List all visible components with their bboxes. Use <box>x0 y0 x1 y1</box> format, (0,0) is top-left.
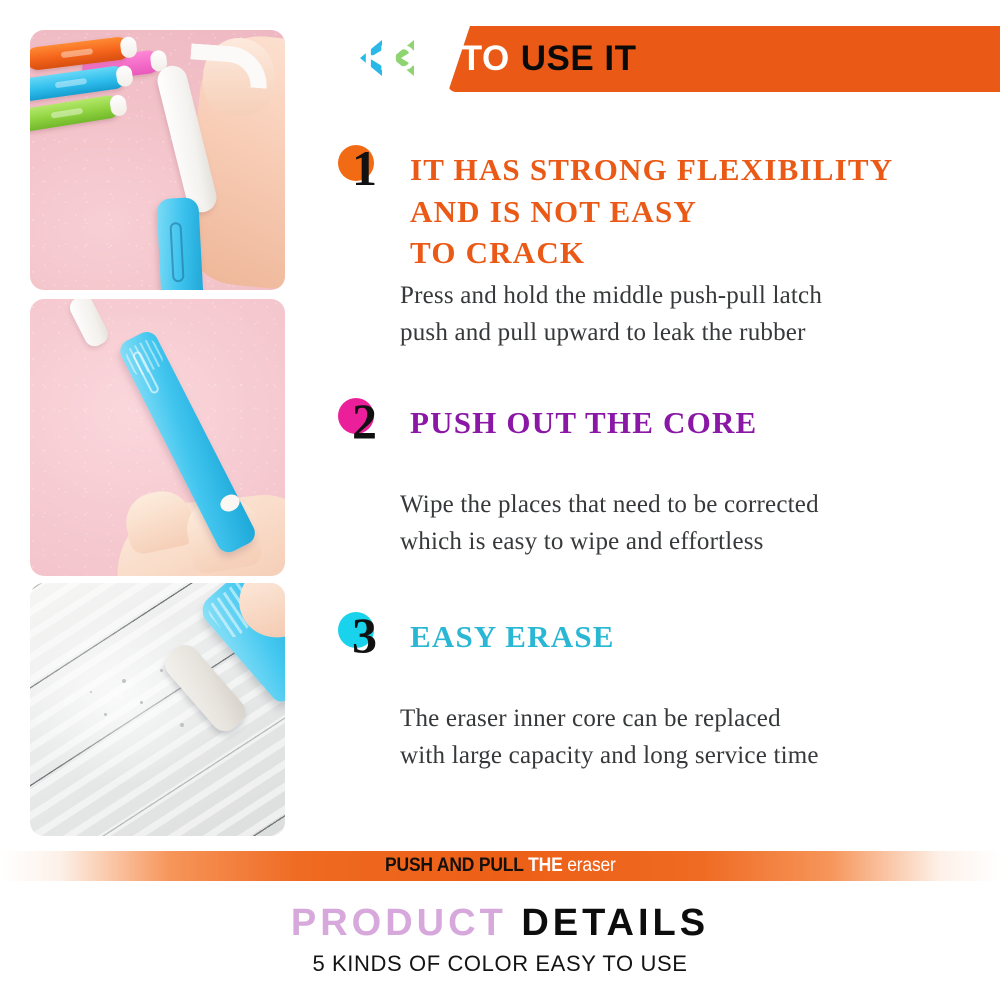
product-details-subtitle: 5 KINDS OF COLOR EASY TO USE <box>0 951 1000 977</box>
footer-bar-text-light: THE <box>528 855 562 876</box>
step-3-heading: 3 EASY ERASE <box>332 612 984 658</box>
step-2-body: Wipe the places that need to be correcte… <box>400 486 984 560</box>
footer-bar-text-dark: PUSH AND PULL <box>385 855 523 876</box>
banner-title-black: USE IT <box>521 39 637 79</box>
page-title: HOW TO USE IT <box>0 26 1000 92</box>
step-2-heading: 2 PUSH OUT THE CORE <box>332 398 984 444</box>
step-1-number: 1 <box>352 143 377 193</box>
eraser-latch-slot <box>51 108 83 119</box>
step-3-title-line-1: EASY ERASE <box>410 616 984 658</box>
step-1-body: Press and hold the middle push-pull latc… <box>400 277 984 351</box>
step-2-number: 2 <box>352 396 377 446</box>
step-2: 2 PUSH OUT THE CORE Wipe the places that… <box>332 398 984 560</box>
step-2-body-line-2: which is easy to wipe and effortless <box>400 523 984 560</box>
product-details-section: PRODUCT DETAILS 5 KINDS OF COLOR EASY TO… <box>0 903 1000 977</box>
header: HOW TO USE IT <box>0 26 1000 92</box>
step-3-title: EASY ERASE <box>410 616 984 658</box>
step-3-body-line-1: The eraser inner core can be replaced <box>400 700 984 737</box>
eraser-core-extended-photo <box>30 299 285 576</box>
step-1-body-line-2: push and pull upward to leak the rubber <box>400 314 984 351</box>
footer-banner-text: PUSH AND PULL THE eraser <box>385 855 616 877</box>
step-1-title-line-1: IT HAS STRONG FLEXIBILITY <box>410 149 984 191</box>
step-1-title-line-3: TO CRACK <box>410 232 984 274</box>
step-3-body-line-2: with large capacity and long service tim… <box>400 737 984 774</box>
footer-bar-text-lower: eraser <box>567 855 615 876</box>
step-2-body-line-1: Wipe the places that need to be correcte… <box>400 486 984 523</box>
step-2-title: PUSH OUT THE CORE <box>410 402 984 444</box>
step-1-body-line-1: Press and hold the middle push-pull latc… <box>400 277 984 314</box>
banner-title-white: HOW TO <box>363 39 509 79</box>
step-3-number: 3 <box>352 610 377 660</box>
eraser-pen-body <box>156 197 204 290</box>
step-1-heading: 1 IT HAS STRONG FLEXIBILITY AND IS NOT E… <box>332 145 984 191</box>
product-details-title: PRODUCT DETAILS <box>0 903 1000 945</box>
step-1-title: IT HAS STRONG FLEXIBILITY AND IS NOT EAS… <box>410 149 984 274</box>
step-1: 1 IT HAS STRONG FLEXIBILITY AND IS NOT E… <box>332 145 984 351</box>
details-word: DETAILS <box>521 902 709 944</box>
erasing-on-paper-photo <box>30 583 285 836</box>
push-pull-latch <box>169 222 184 283</box>
step-1-title-line-2: AND IS NOT EASY <box>410 191 984 233</box>
footer-banner: PUSH AND PULL THE eraser <box>0 851 1000 881</box>
step-2-title-line-1: PUSH OUT THE CORE <box>410 402 984 444</box>
step-3-body: The eraser inner core can be replaced wi… <box>400 700 984 774</box>
product-word: PRODUCT <box>291 902 507 944</box>
step-3: 3 EASY ERASE The eraser inner core can b… <box>332 612 984 774</box>
